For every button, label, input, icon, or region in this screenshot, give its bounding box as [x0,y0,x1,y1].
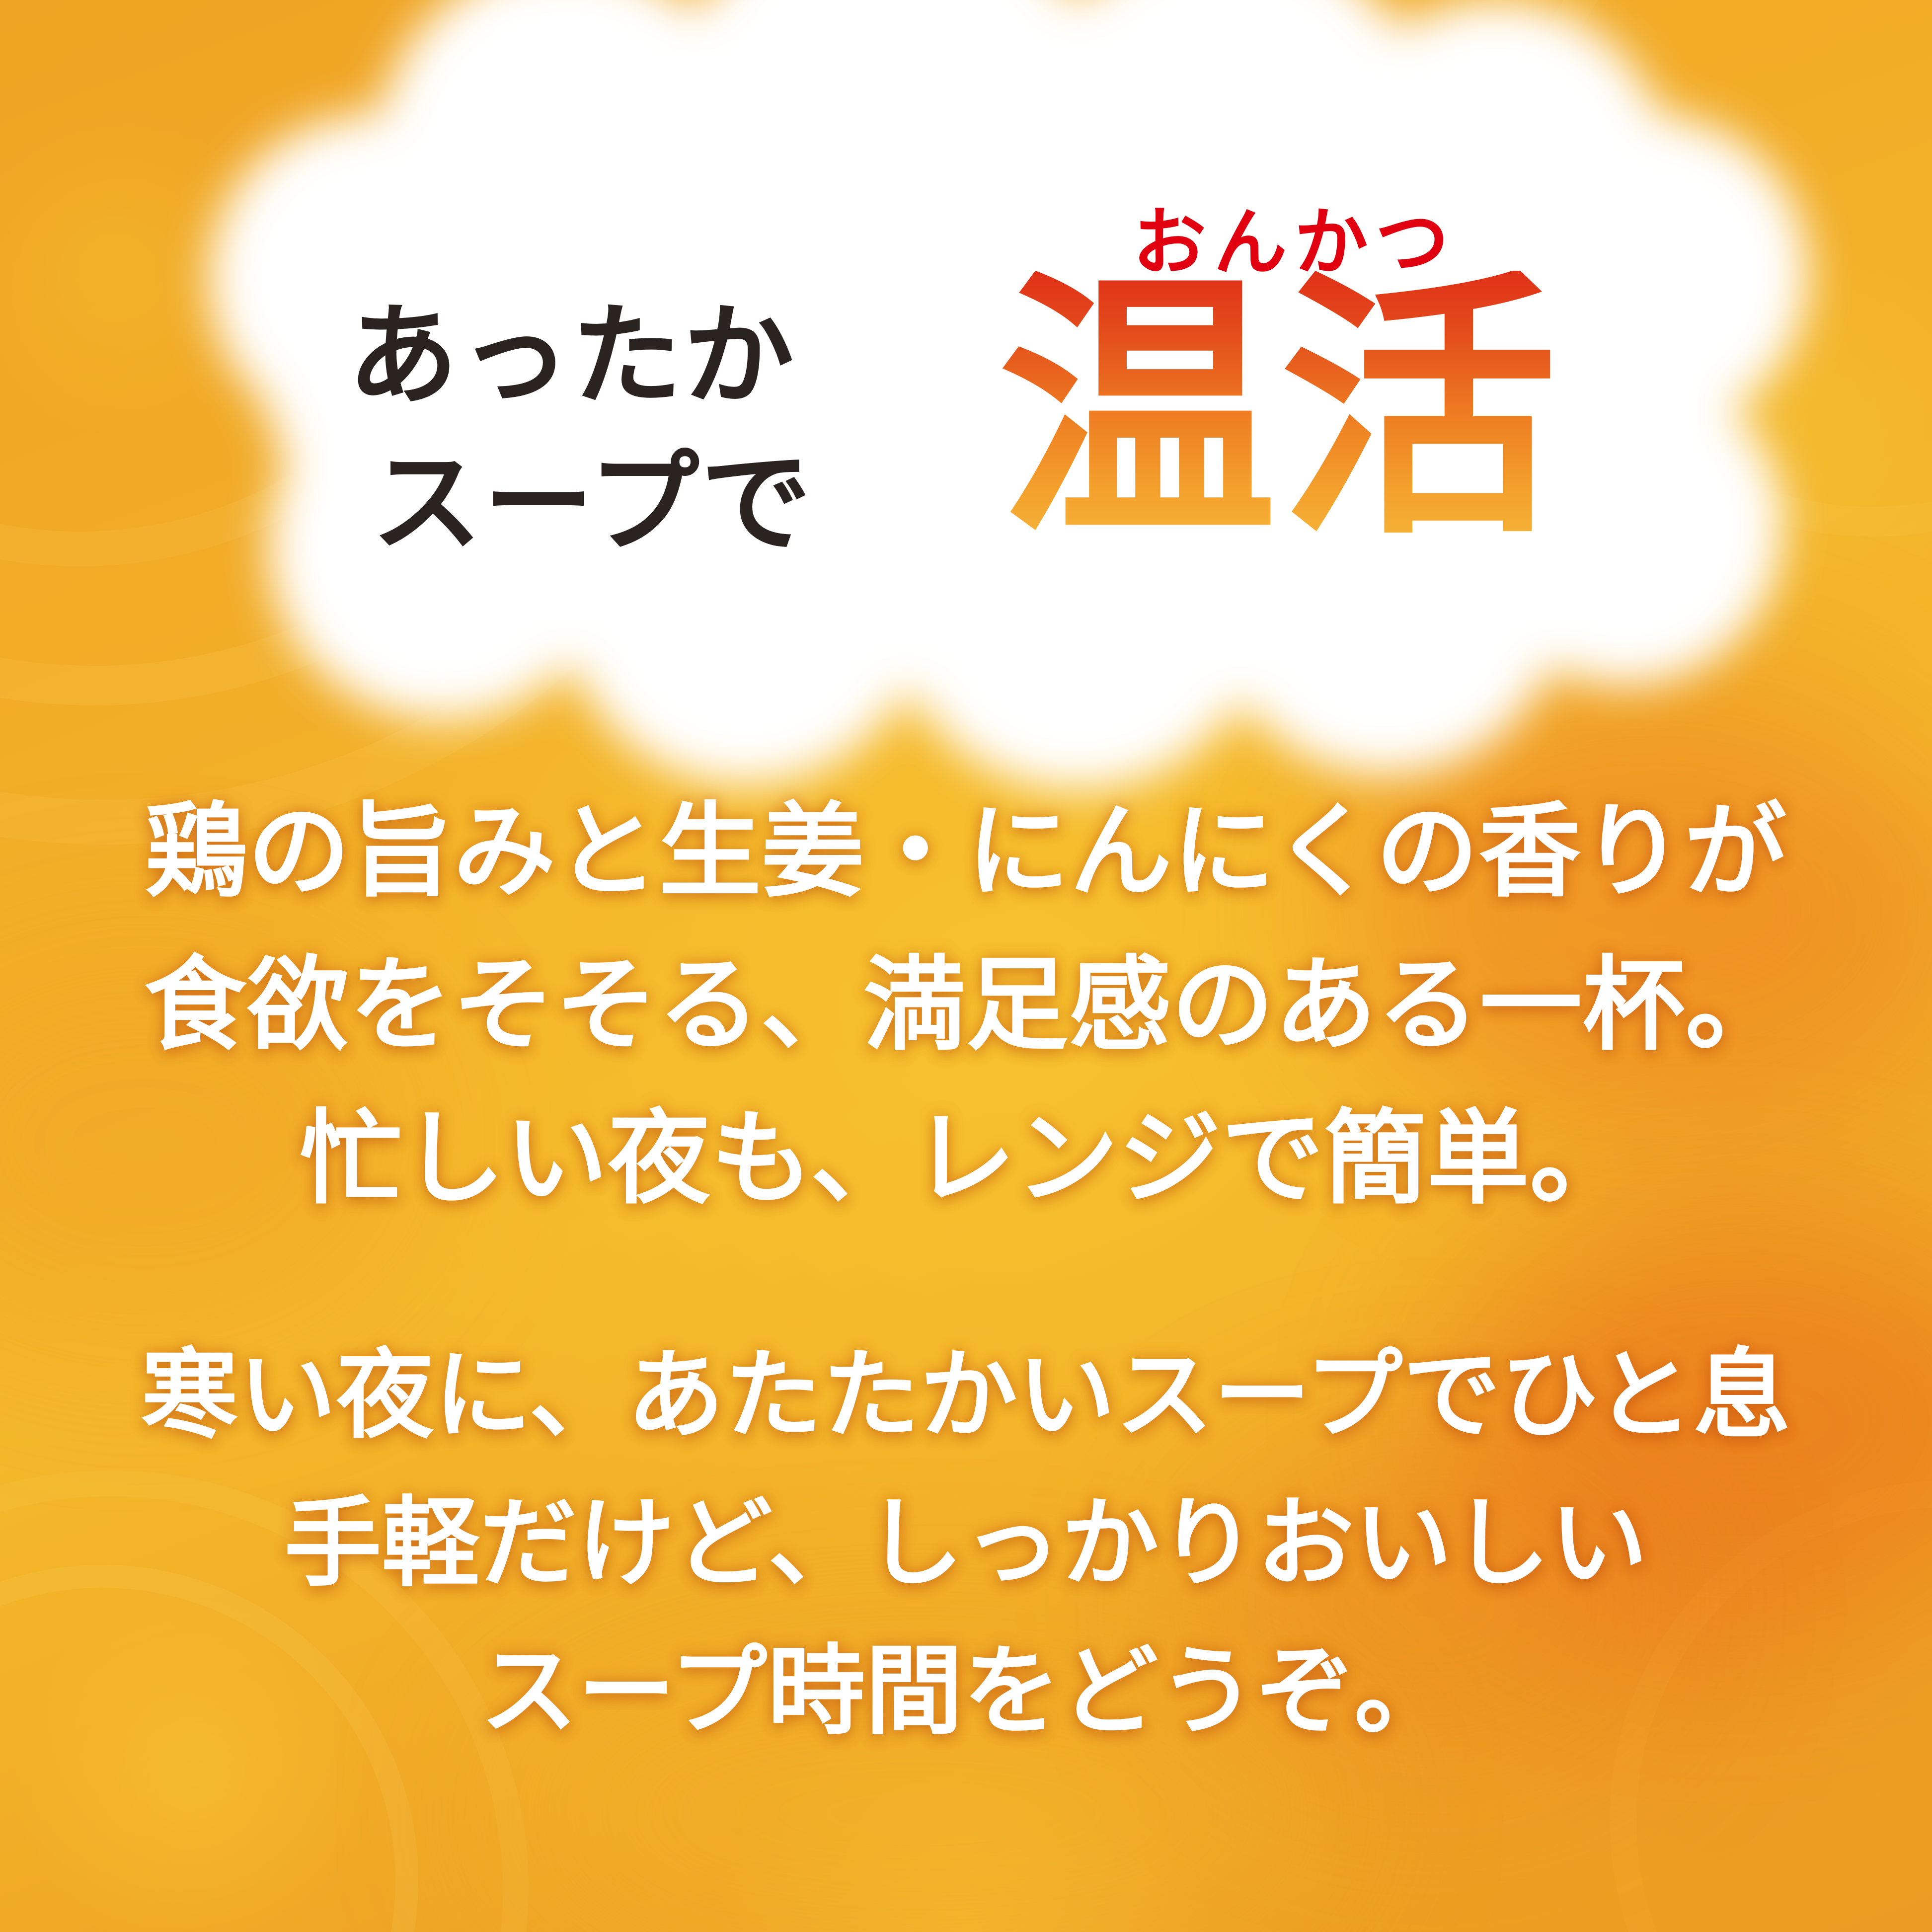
cloud-shape [0,0,1932,780]
paragraph-2-line-3: スープ時間をどうぞ。 [0,1618,1932,1766]
headline-line-1: あったか [348,278,795,435]
body-paragraph-1: 鶏の旨みと生姜・にんにくの香りが 食欲をそそる、満足感のある一杯。 忙しい夜も、… [0,775,1932,1236]
paragraph-2-line-1: 寒い夜に、あたたかいスープでひと息 [0,1321,1932,1469]
paragraph-1-line-1: 鶏の旨みと生姜・にんにくの香りが [0,775,1932,928]
headline-line-2: スープで [372,425,813,582]
onkatsu-logo: おんかつ 温活 [999,271,1585,628]
paragraph-1-line-3: 忙しい夜も、レンジで簡単。 [0,1082,1932,1236]
paragraph-1-line-2: 食欲をそそる、満足感のある一杯。 [0,928,1932,1082]
body-paragraph-2: 寒い夜に、あたたかいスープでひと息 手軽だけど、しっかりおいしい スープ時間をど… [0,1321,1932,1766]
logo-kanji: 温活 [999,271,1560,549]
cloud-blob [0,0,1932,780]
promo-poster: あったか スープで おんかつ 温活 鶏の旨みと生姜・にんにくの香りが 食欲をそそ… [0,0,1932,1932]
paragraph-2-line-2: 手軽だけど、しっかりおいしい [0,1469,1932,1618]
